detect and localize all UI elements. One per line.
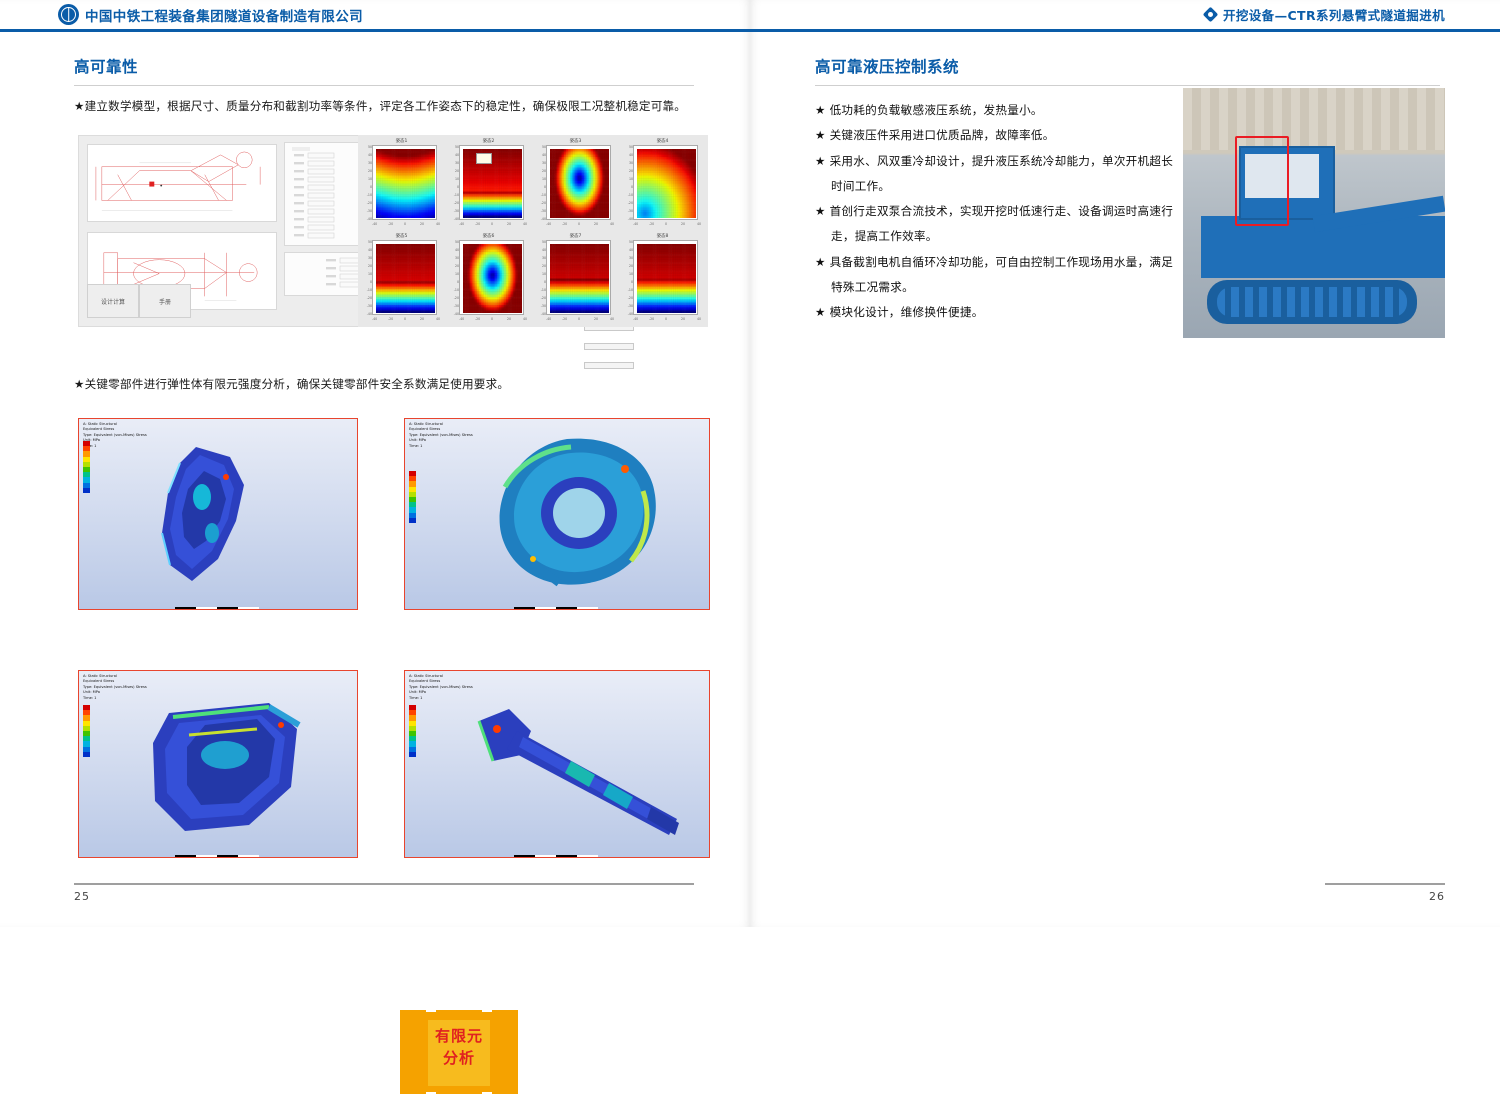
heatmap-y-tick: 10: [368, 177, 372, 181]
heatmap-x-tick: -40: [546, 317, 551, 321]
heatmap-y-tick: -10: [628, 193, 633, 197]
bullet-text: ★ 具备截割电机自循环冷却功能，可自由控制工作现场用水量，满足: [815, 255, 1173, 269]
bullet-cont: 特殊工况需求。: [815, 275, 914, 300]
heatmap-y-tick: -30: [367, 304, 372, 308]
left-content-column: 高可靠性 ★建立数学模型，根据尺寸、质量分布和截割功率等条件，评定各工作姿态下的…: [74, 55, 694, 116]
heatmap-grid-screenshot: 姿态150403020100-10-20-30-40-40-2002040姿态2…: [358, 135, 708, 327]
heatmap-y-tick: -20: [454, 296, 459, 300]
heatmap-y-tick: 0: [544, 185, 546, 189]
diamond-bullet-icon: [1203, 7, 1219, 23]
heatmap-y-tick: 40: [368, 248, 372, 252]
heatmap-cell-5: 姿态650403020100-10-20-30-40-40-2002040: [445, 232, 532, 327]
heatmap-title: 姿态8: [619, 233, 706, 239]
left-header: 中国中铁工程装备集团隧道设备制造有限公司: [0, 0, 750, 33]
fea-legend-4: [409, 705, 416, 757]
heatmap-y-tick: 0: [370, 280, 372, 284]
heatmap-y-tick: 30: [629, 256, 633, 260]
heatmap-y-ticks: 50403020100-10-20-30-40: [625, 240, 633, 315]
heatmap-y-tick: -30: [454, 209, 459, 213]
heatmap-title: 姿态1: [358, 138, 445, 144]
heatmap-y-tick: 30: [455, 256, 459, 260]
heatmap-surface: [376, 244, 435, 313]
heatmap-axes: [633, 240, 698, 315]
heatmap-cell-0: 姿态150403020100-10-20-30-40-40-2002040: [358, 137, 445, 232]
heatmap-y-tick: 0: [457, 280, 459, 284]
left-second-bullet-wrap: ★关键零部件进行弹性体有限元强度分析，确保关键零部件安全系数满足使用要求。: [74, 376, 694, 394]
fea-scalebar-3: [175, 844, 261, 851]
heatmap-surface: [463, 244, 522, 313]
heatmap-x-tick: -40: [633, 317, 638, 321]
heatmap-x-tick: -20: [388, 222, 393, 226]
left-footer: 25: [74, 883, 694, 903]
bullet-text: ★ 模块化设计，维修换件便捷。: [815, 305, 984, 319]
heatmap-axes: [546, 240, 611, 315]
bullet-text: ★ 采用水、风双重冷却设计，提升液压系统冷却能力，单次开机超长: [815, 154, 1173, 168]
heatmap-title: 姿态6: [445, 233, 532, 239]
left-second-bullet: ★关键零部件进行弹性体有限元强度分析，确保关键零部件安全系数满足使用要求。: [74, 376, 694, 394]
heatmap-x-tick: 0: [665, 317, 667, 321]
heatmap-y-tick: -10: [454, 193, 459, 197]
heatmap-y-ticks: 50403020100-10-20-30-40: [538, 145, 546, 220]
heatmap-title: 姿态5: [358, 233, 445, 239]
cad-button-3[interactable]: [584, 343, 634, 350]
heatmap-y-tick: -10: [541, 288, 546, 292]
fea-scalebar-2: [514, 596, 600, 603]
heatmap-y-ticks: 50403020100-10-20-30-40: [451, 145, 459, 220]
heatmap-tooltip: [476, 153, 492, 164]
heatmap-x-tick: -40: [372, 222, 377, 226]
left-section-rule: [74, 85, 694, 86]
heatmap-y-tick: 20: [455, 169, 459, 173]
fea-scalebar-1: [175, 596, 261, 603]
header-company-name: 中国中铁工程装备集团隧道设备制造有限公司: [85, 5, 363, 25]
heatmap-cell-1: 姿态250403020100-10-20-30-40-40-2002040: [445, 137, 532, 232]
fea-mesh-2: [475, 433, 690, 598]
right-section-rule: [815, 85, 1440, 86]
heatmap-x-tick: 20: [681, 317, 685, 321]
heatmap-x-tick: 20: [507, 222, 511, 226]
fea-caption-2: A: Static StructuralEquivalent StressTyp…: [409, 422, 473, 449]
heatmap-y-tick: -40: [367, 312, 372, 316]
heatmap-x-tick: 0: [665, 222, 667, 226]
heatmap-y-tick: 10: [455, 272, 459, 276]
heatmap-y-ticks: 50403020100-10-20-30-40: [625, 145, 633, 220]
heatmap-x-tick: 40: [697, 317, 701, 321]
company-crest-icon: [58, 4, 79, 25]
fea-mesh-1: [134, 441, 294, 591]
heatmap-y-tick: 30: [368, 256, 372, 260]
heatmap-x-tick: 40: [523, 222, 527, 226]
heatmap-x-tick: -40: [459, 222, 464, 226]
heatmap-y-tick: -20: [541, 296, 546, 300]
bullet-text: ★ 低功耗的负载敏感液压系统，发热量小。: [815, 103, 1043, 117]
heatmap-y-tick: 0: [544, 280, 546, 284]
heatmap-axes: [633, 145, 698, 220]
heatmap-y-tick: -10: [367, 193, 372, 197]
fea-badge: 有限元 分析: [400, 1006, 518, 1098]
heatmap-title: 姿态3: [532, 138, 619, 144]
cad-button-4[interactable]: [584, 362, 634, 369]
bullet-cont: 走，提高工作效率。: [815, 224, 938, 249]
right-footer: 26: [825, 883, 1445, 903]
heatmap-axes: [459, 240, 524, 315]
heatmap-y-tick: 20: [368, 169, 372, 173]
heatmap-y-tick: 30: [542, 256, 546, 260]
bullet-text: ★ 关键液压件采用进口优质品牌，故障率低。: [815, 128, 1055, 142]
heatmap-y-tick: 30: [455, 161, 459, 165]
heatmap-y-tick: 50: [455, 145, 459, 149]
heatmap-title: 姿态7: [532, 233, 619, 239]
heatmap-x-ticks: -40-2002040: [633, 317, 698, 323]
cad-tab-1[interactable]: 手册: [139, 284, 191, 318]
cad-drawing-top: [87, 144, 277, 222]
heatmap-y-tick: -30: [367, 209, 372, 213]
heatmap-x-tick: 0: [404, 222, 406, 226]
heatmap-y-tick: 10: [629, 272, 633, 276]
heatmap-y-tick: -30: [628, 304, 633, 308]
heatmap-x-tick: 40: [697, 222, 701, 226]
heatmap-y-tick: -20: [454, 201, 459, 205]
fea-image-housing: A: Static StructuralEquivalent StressTyp…: [78, 418, 358, 610]
heatmap-y-tick: -30: [628, 209, 633, 213]
right-page: 开挖设备—CTR系列悬臂式隧道掘进机 高可靠液压控制系统 ★ 低功耗的负载敏感液…: [750, 0, 1500, 927]
heatmap-x-tick: 0: [578, 222, 580, 226]
heatmap-x-tick: -20: [475, 317, 480, 321]
heatmap-y-ticks: 50403020100-10-20-30-40: [364, 240, 372, 315]
heatmap-title: 姿态4: [619, 138, 706, 144]
header-product-block: 开挖设备—CTR系列悬臂式隧道掘进机: [1205, 5, 1445, 24]
heatmap-y-tick: -40: [541, 312, 546, 316]
machine-photo: [1183, 88, 1445, 338]
fea-legend-3: [83, 705, 90, 757]
heatmap-y-tick: 20: [542, 169, 546, 173]
heatmap-x-tick: -20: [475, 222, 480, 226]
heatmap-x-ticks: -40-2002040: [372, 317, 437, 323]
heatmap-y-ticks: 50403020100-10-20-30-40: [538, 240, 546, 315]
heatmap-y-tick: 10: [455, 177, 459, 181]
fea-image-boom: A: Static StructuralEquivalent StressTyp…: [404, 670, 710, 858]
heatmap-x-tick: -20: [562, 222, 567, 226]
heatmap-x-tick: 20: [681, 222, 685, 226]
heatmap-axes: [546, 145, 611, 220]
heatmap-y-tick: 10: [542, 272, 546, 276]
heatmap-y-tick: -20: [628, 296, 633, 300]
heatmap-x-ticks: -40-2002040: [546, 317, 611, 323]
heatmap-y-tick: 50: [368, 240, 372, 244]
heatmap-x-tick: 20: [594, 222, 598, 226]
heatmap-y-ticks: 50403020100-10-20-30-40: [364, 145, 372, 220]
photo-highlight-box: [1235, 136, 1289, 226]
heatmap-x-ticks: -40-2002040: [546, 222, 611, 228]
heatmap-y-tick: 10: [368, 272, 372, 276]
heatmap-y-tick: 30: [629, 161, 633, 165]
right-section-title: 高可靠液压控制系统: [815, 55, 1440, 77]
heatmap-y-tick: 10: [542, 177, 546, 181]
heatmap-x-tick: 40: [523, 317, 527, 321]
heatmap-y-tick: -10: [454, 288, 459, 292]
heatmap-y-tick: 10: [629, 177, 633, 181]
heatmap-y-tick: 20: [629, 264, 633, 268]
heatmap-x-tick: -20: [388, 317, 393, 321]
heatmap-surface: [637, 149, 696, 218]
fea-scalebar-4: [514, 844, 600, 851]
header-rule-right: [750, 29, 1500, 32]
heatmap-x-tick: 0: [491, 222, 493, 226]
heatmap-x-tick: -40: [372, 317, 377, 321]
heatmap-cell-3: 姿态450403020100-10-20-30-40-40-2002040: [619, 137, 706, 232]
fea-badge-text: 有限元 分析: [400, 1026, 518, 1070]
heatmap-y-tick: 20: [368, 264, 372, 268]
heatmap-x-tick: 40: [436, 317, 440, 321]
heatmap-y-tick: 40: [629, 153, 633, 157]
heatmap-y-tick: -40: [628, 217, 633, 221]
header-company-block: 中国中铁工程装备集团隧道设备制造有限公司: [58, 4, 363, 25]
heatmap-x-tick: 40: [610, 222, 614, 226]
heatmap-y-tick: 40: [542, 153, 546, 157]
heatmap-y-tick: 40: [542, 248, 546, 252]
heatmap-y-tick: 0: [631, 185, 633, 189]
heatmap-y-tick: 20: [455, 264, 459, 268]
heatmap-y-tick: -40: [541, 217, 546, 221]
fea-mesh-3: [129, 695, 329, 841]
heatmap-y-tick: 40: [455, 248, 459, 252]
heatmap-y-tick: -40: [628, 312, 633, 316]
heatmap-x-tick: -40: [633, 222, 638, 226]
left-section-title: 高可靠性: [74, 55, 694, 77]
header-product-name: 开挖设备—CTR系列悬臂式隧道掘进机: [1223, 5, 1445, 24]
magazine-spread: 中国中铁工程装备集团隧道设备制造有限公司 高可靠性 ★建立数学模型，根据尺寸、质…: [0, 0, 1500, 927]
heatmap-cell-7: 姿态850403020100-10-20-30-40-40-2002040: [619, 232, 706, 327]
heatmap-y-tick: -40: [367, 217, 372, 221]
heatmap-y-tick: -30: [541, 304, 546, 308]
heatmap-x-ticks: -40-2002040: [459, 317, 524, 323]
heatmap-y-tick: 40: [368, 153, 372, 157]
heatmap-y-tick: 50: [542, 145, 546, 149]
fea-badge-line1: 有限元: [400, 1026, 518, 1048]
right-header: 开挖设备—CTR系列悬臂式隧道掘进机: [750, 0, 1500, 33]
left-page: 中国中铁工程装备集团隧道设备制造有限公司 高可靠性 ★建立数学模型，根据尺寸、质…: [0, 0, 750, 927]
heatmap-y-tick: -10: [541, 193, 546, 197]
fea-legend-1: [83, 441, 90, 493]
heatmap-y-tick: 40: [455, 153, 459, 157]
left-page-number: 25: [74, 890, 694, 903]
heatmap-y-tick: 0: [457, 185, 459, 189]
heatmap-title: 姿态2: [445, 138, 532, 144]
heatmap-y-tick: -30: [541, 209, 546, 213]
heatmap-x-tick: 40: [610, 317, 614, 321]
heatmap-y-tick: 20: [542, 264, 546, 268]
heatmap-y-tick: -10: [367, 288, 372, 292]
heatmap-x-tick: 20: [594, 317, 598, 321]
heatmap-surface: [550, 149, 609, 218]
heatmap-surface: [550, 244, 609, 313]
fea-badge-line2: 分析: [400, 1048, 518, 1070]
heatmap-y-tick: -20: [628, 201, 633, 205]
heatmap-y-tick: -30: [454, 304, 459, 308]
fea-legend-2: [409, 471, 416, 523]
heatmap-axes: [372, 145, 437, 220]
heatmap-y-tick: -40: [454, 312, 459, 316]
heatmap-x-tick: -20: [562, 317, 567, 321]
heatmap-y-tick: -40: [454, 217, 459, 221]
left-intro-text: ★建立数学模型，根据尺寸、质量分布和截割功率等条件，评定各工作姿态下的稳定性，确…: [74, 98, 694, 116]
heatmap-y-tick: -10: [628, 288, 633, 292]
heatmap-y-tick: -20: [367, 201, 372, 205]
heatmap-y-tick: 0: [631, 280, 633, 284]
heatmap-x-tick: -20: [649, 222, 654, 226]
heatmap-cell-4: 姿态550403020100-10-20-30-40-40-2002040: [358, 232, 445, 327]
heatmap-x-tick: 20: [507, 317, 511, 321]
heatmap-y-tick: -20: [367, 296, 372, 300]
right-footer-rule: [1325, 883, 1445, 885]
heatmap-surface: [376, 149, 435, 218]
heatmap-y-tick: 50: [629, 240, 633, 244]
heatmap-axes: [372, 240, 437, 315]
cad-tab-0[interactable]: 设计计算: [87, 284, 139, 318]
heatmap-surface: [463, 149, 522, 218]
fea-image-turret: A: Static StructuralEquivalent StressTyp…: [404, 418, 710, 610]
heatmap-y-tick: 20: [629, 169, 633, 173]
heatmap-x-tick: 20: [420, 317, 424, 321]
cad-tab-row[interactable]: 设计计算 手册: [87, 284, 191, 318]
heatmap-x-tick: -40: [459, 317, 464, 321]
heatmap-y-tick: 50: [629, 145, 633, 149]
heatmap-y-tick: -20: [541, 201, 546, 205]
heatmap-y-tick: 40: [629, 248, 633, 252]
heatmap-y-tick: 50: [368, 145, 372, 149]
heatmap-x-ticks: -40-2002040: [372, 222, 437, 228]
right-page-number: 26: [825, 890, 1445, 903]
heatmap-y-tick: 0: [370, 185, 372, 189]
cad-drawing-top-svg: [88, 145, 276, 222]
heatmap-cell-2: 姿态350403020100-10-20-30-40-40-2002040: [532, 137, 619, 232]
left-footer-rule: [74, 883, 694, 885]
fea-image-frame: A: Static StructuralEquivalent StressTyp…: [78, 670, 358, 858]
heatmap-x-ticks: -40-2002040: [633, 222, 698, 228]
heatmap-x-tick: -20: [649, 317, 654, 321]
heatmap-x-tick: 20: [420, 222, 424, 226]
heatmap-x-tick: 0: [578, 317, 580, 321]
fea-mesh-4: [463, 687, 703, 847]
heatmap-y-tick: 30: [542, 161, 546, 165]
heatmap-y-ticks: 50403020100-10-20-30-40: [451, 240, 459, 315]
heatmap-surface: [637, 244, 696, 313]
heatmap-x-tick: 40: [436, 222, 440, 226]
heatmap-y-tick: 50: [542, 240, 546, 244]
heatmap-x-ticks: -40-2002040: [459, 222, 524, 228]
fea-images-group: A: Static StructuralEquivalent StressTyp…: [78, 418, 710, 858]
heatmap-y-tick: 50: [455, 240, 459, 244]
heatmap-x-tick: 0: [404, 317, 406, 321]
header-rule: [0, 29, 750, 32]
bullet-cont: 时间工作。: [815, 174, 890, 199]
heatmap-y-tick: 30: [368, 161, 372, 165]
bullet-text: ★ 首创行走双泵合流技术，实现开挖时低速行走、设备调运时高速行: [815, 204, 1173, 218]
heatmap-cell-6: 姿态750403020100-10-20-30-40-40-2002040: [532, 232, 619, 327]
heatmap-x-tick: -40: [546, 222, 551, 226]
heatmap-x-tick: 0: [491, 317, 493, 321]
